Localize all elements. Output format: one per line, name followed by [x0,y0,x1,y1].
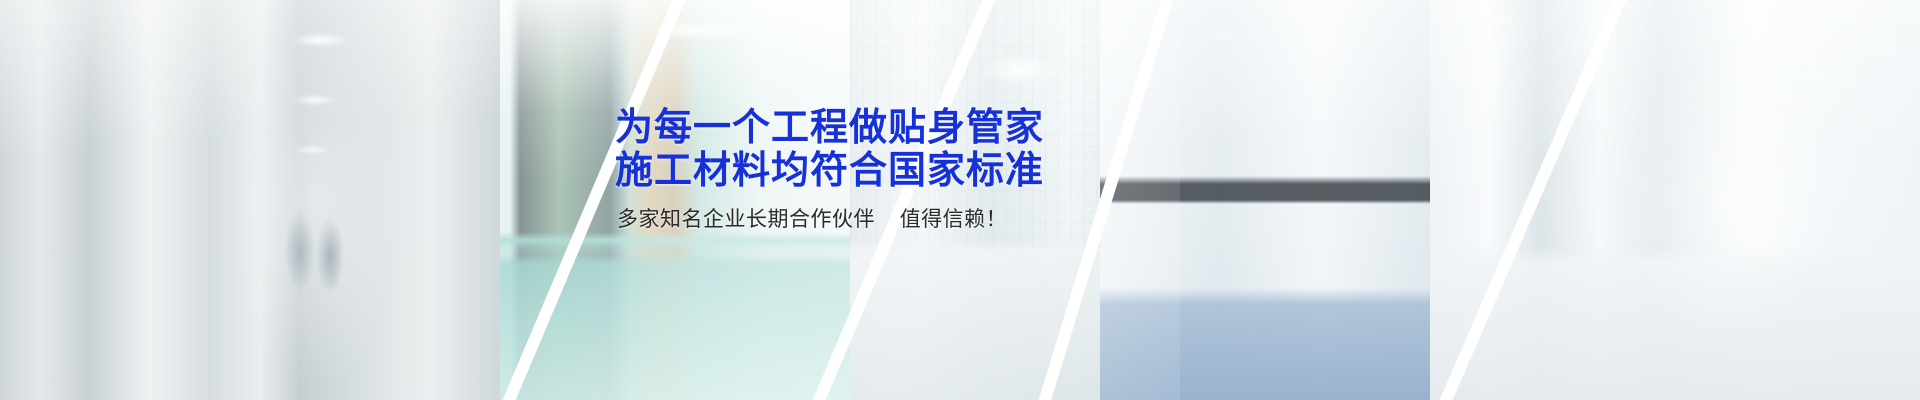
banner-copy: 为每一个工程做贴身管家 施工材料均符合国家标准 多家知名企业长期合作伙伴 值得信… [615,108,1235,234]
headline-line-1: 为每一个工程做贴身管家 [615,108,1235,149]
subline-part-1: 多家知名企业长期合作伙伴 [617,208,875,231]
hero-banner: 为每一个工程做贴身管家 施工材料均符合国家标准 多家知名企业长期合作伙伴 值得信… [0,0,1920,400]
headline-line-2: 施工材料均符合国家标准 [615,151,1235,192]
panel-bright-white-corridor [1430,0,1920,400]
subline: 多家知名企业长期合作伙伴 值得信赖！ [617,206,1235,234]
subline-part-2: 值得信赖！ [900,208,1008,231]
